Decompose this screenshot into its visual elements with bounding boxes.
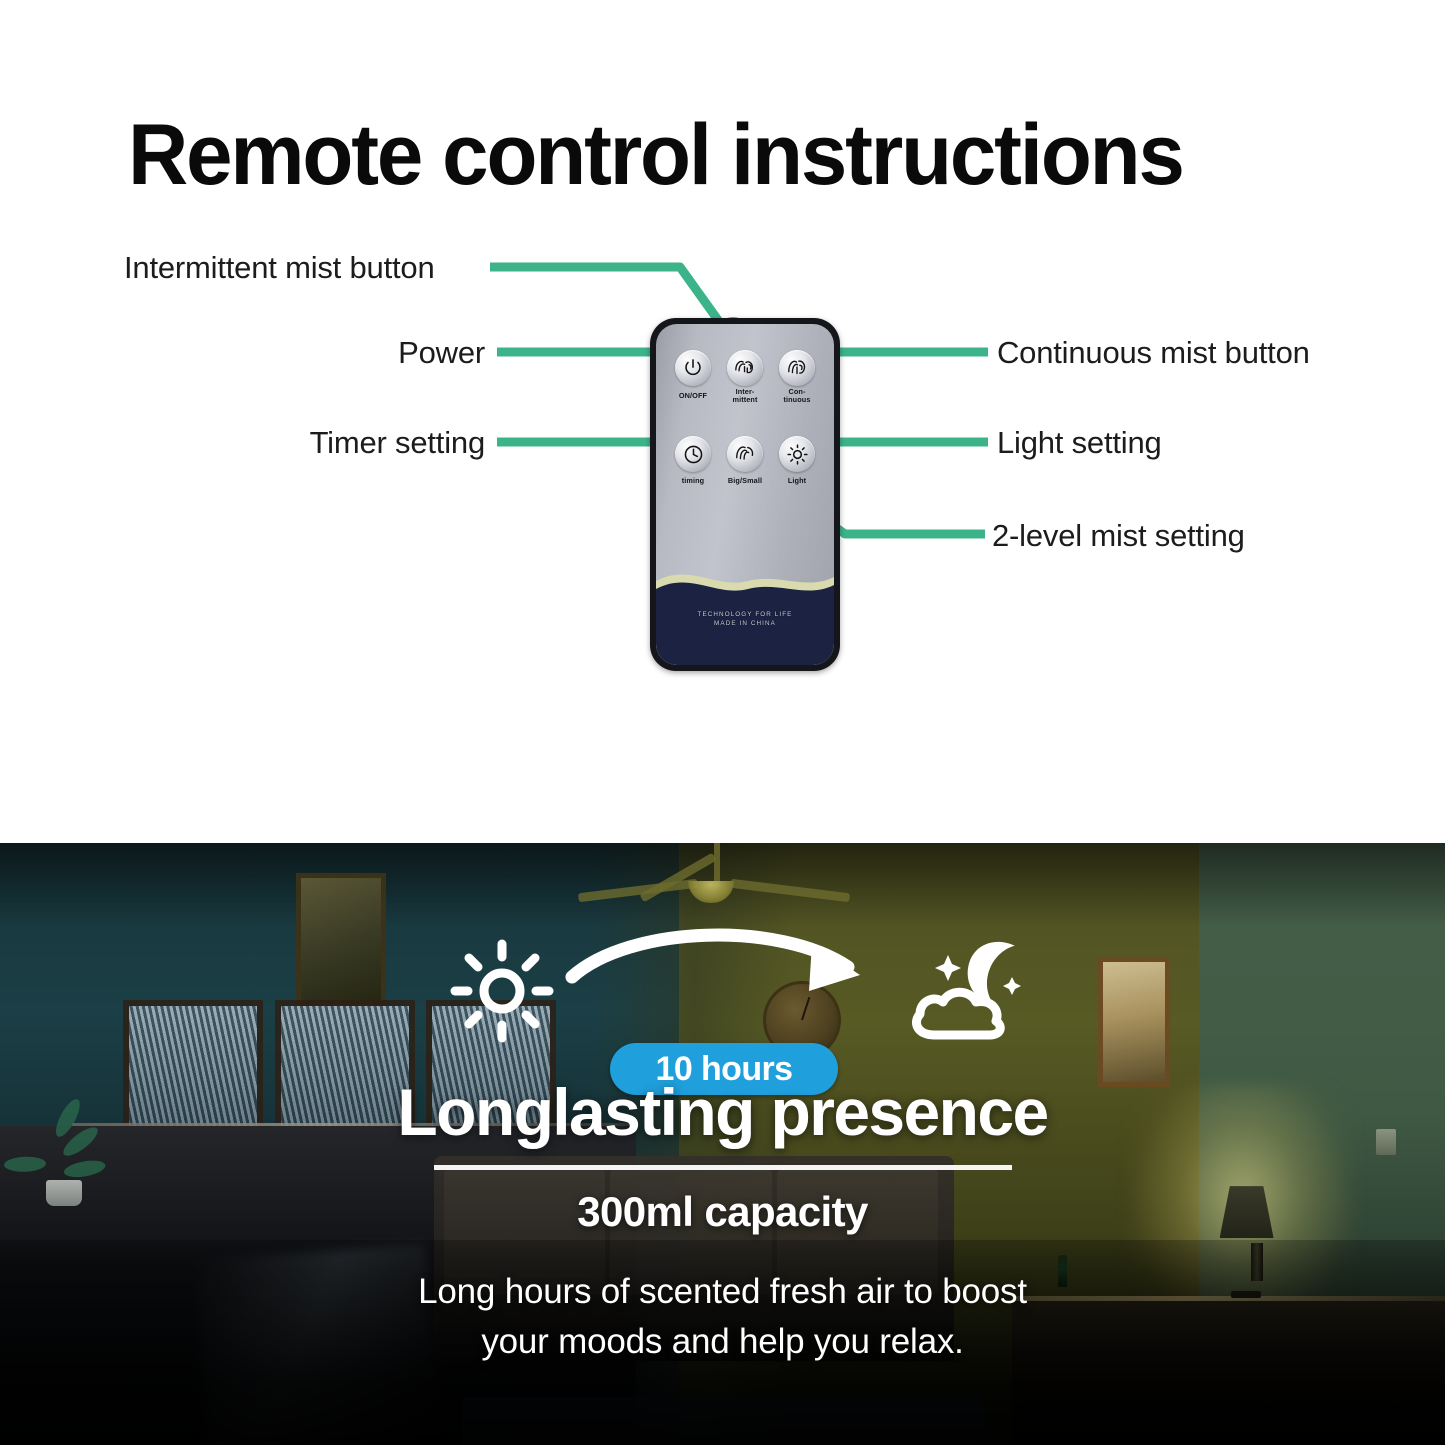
callout-label-continuous-mist: Continuous mist button: [997, 337, 1310, 368]
curved-arrow-icon: [560, 919, 890, 1044]
continuous-mist-icon: [785, 357, 809, 379]
remote-instructions-panel: Remote control instructions Intermitte: [0, 0, 1445, 843]
subheadline: 300ml capacity: [0, 1188, 1445, 1236]
sun-icon: [786, 443, 809, 466]
body-copy: Long hours of scented fresh air to boost…: [0, 1267, 1445, 1366]
remote-label-continuous: Con- tinuous: [770, 388, 824, 404]
remote-label-continuous-line2: tinuous: [770, 396, 824, 404]
remote-label-big-small: Big/Small: [718, 477, 772, 485]
remote-button-light[interactable]: [779, 436, 815, 472]
remote-button-timing[interactable]: [675, 436, 711, 472]
day-to-night-graphic: 10 hours: [0, 923, 1445, 1058]
body-copy-line2: your moods and help you relax.: [0, 1317, 1445, 1367]
remote-label-light: Light: [770, 477, 824, 485]
remote-button-mist-level[interactable]: [727, 436, 763, 472]
callout-label-power: Power: [398, 337, 485, 368]
remote-label-power: ON/OFF: [666, 392, 720, 400]
headline: Longlasting presence: [0, 1079, 1445, 1145]
callout-label-timer-setting: Timer setting: [310, 427, 485, 458]
remote-button-continuous-mist[interactable]: [779, 350, 815, 386]
moon-cloud-stars-icon: [900, 931, 1030, 1056]
intermittent-mist-icon: [733, 357, 757, 379]
body-copy-line1: Long hours of scented fresh air to boost: [0, 1267, 1445, 1317]
clock-icon: [682, 443, 705, 466]
sun-icon: [448, 937, 556, 1050]
remote-brand-line2: MADE IN CHINA: [656, 619, 834, 629]
page-title: Remote control instructions: [128, 112, 1341, 198]
callout-label-light-setting: Light setting: [997, 427, 1162, 458]
callout-label-intermittent-mist: Intermittent mist button: [124, 252, 435, 283]
remote-brand-line1: TECHNOLOGY FOR LIFE: [656, 610, 834, 620]
remote-label-intermittent: Inter- mittent: [718, 388, 772, 404]
remote-brand-text: TECHNOLOGY FOR LIFE MADE IN CHINA: [656, 610, 834, 630]
callout-label-two-level-mist: 2-level mist setting: [992, 520, 1245, 551]
headline-rule: [434, 1165, 1012, 1170]
power-icon: [682, 357, 704, 379]
longlasting-presence-panel: 10 hours Longlasting presence 300ml capa…: [0, 843, 1445, 1445]
remote-button-intermittent-mist[interactable]: [727, 350, 763, 386]
remote-label-timing: timing: [666, 477, 720, 485]
remote-control-device: TECHNOLOGY FOR LIFE MADE IN CHINA: [650, 318, 840, 671]
remote-button-power[interactable]: [675, 350, 711, 386]
remote-faceplate: TECHNOLOGY FOR LIFE MADE IN CHINA: [656, 324, 834, 665]
mist-level-icon: [733, 443, 757, 465]
remote-label-intermittent-line2: mittent: [718, 396, 772, 404]
